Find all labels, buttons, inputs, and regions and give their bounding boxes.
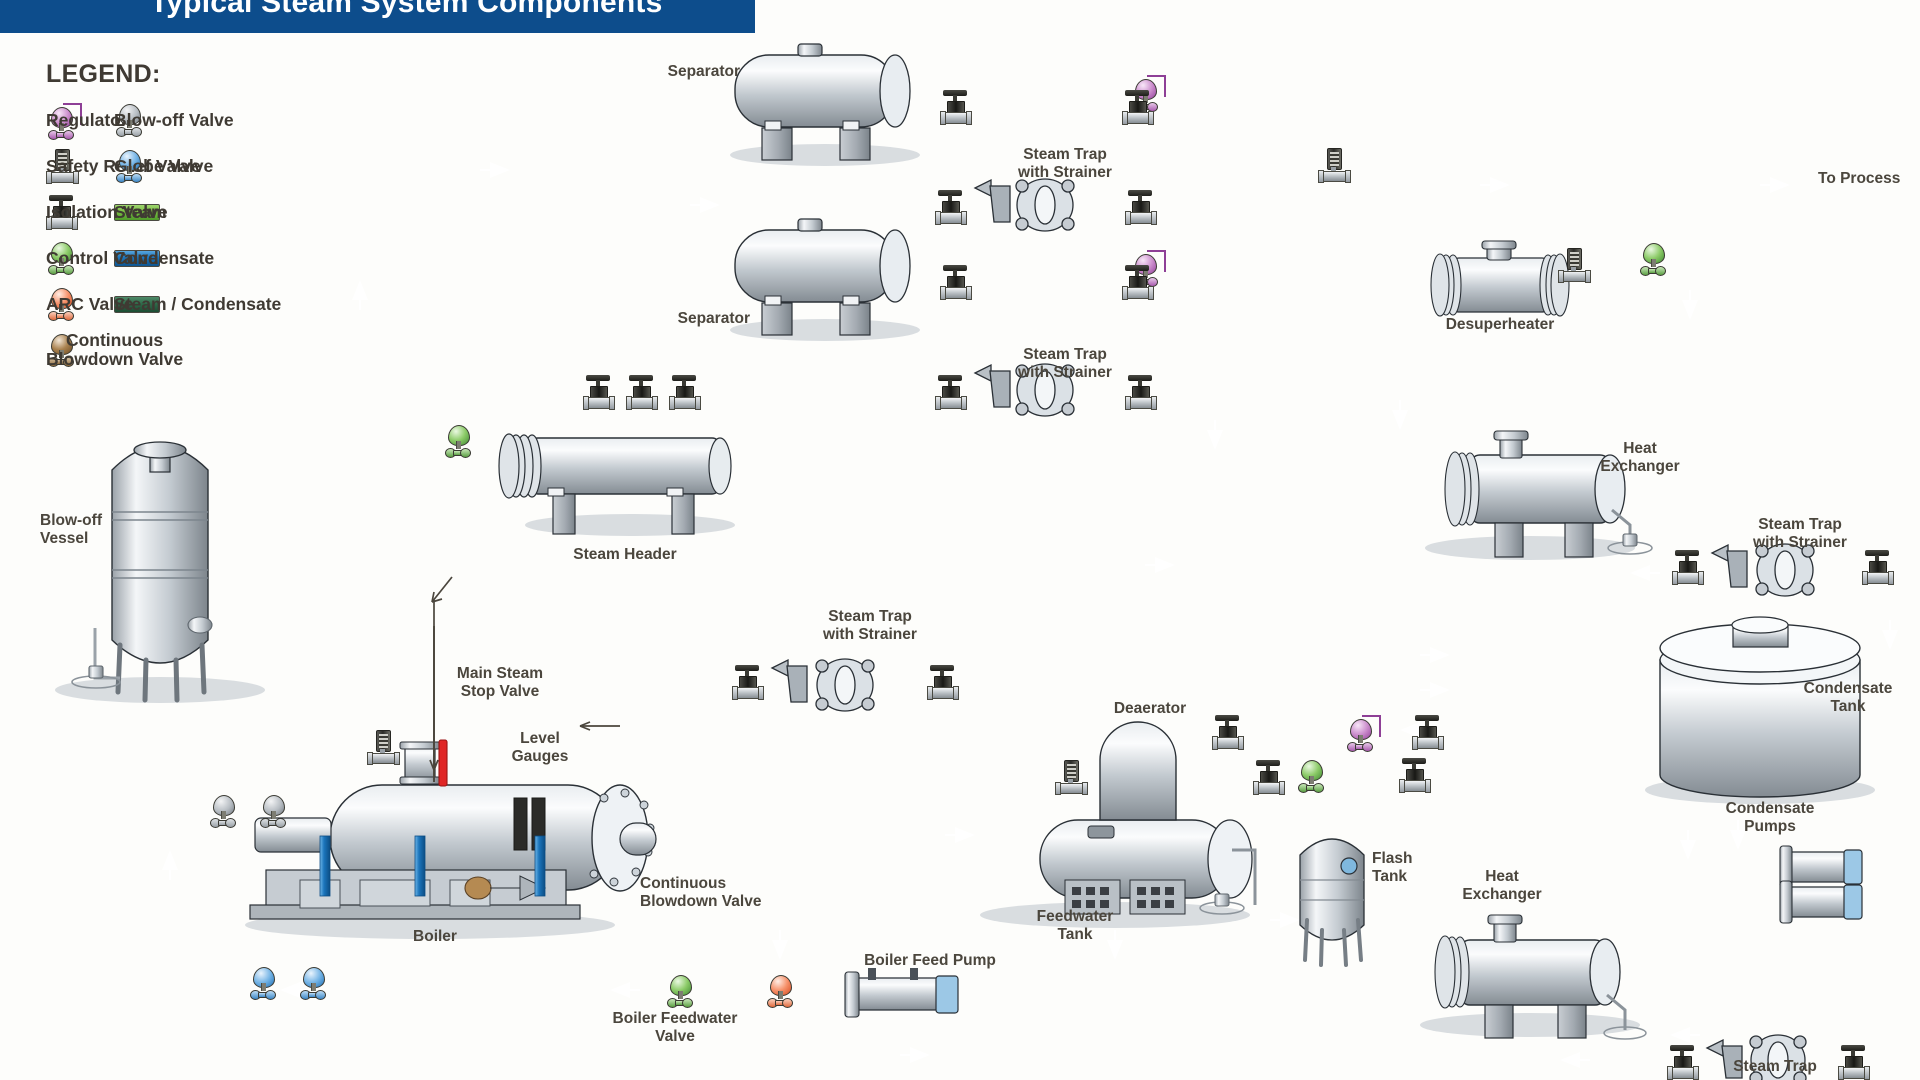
globe-valve-boiler-drain-1[interactable] xyxy=(248,967,278,999)
label-steam-header: Steam Header xyxy=(545,546,705,564)
flash-tank-graphic xyxy=(1300,839,1364,965)
heat-exchanger-bottom-graphic xyxy=(1420,915,1646,1039)
label-desuperheater: Desuperheater xyxy=(1400,316,1600,334)
label-separator-top: Separator xyxy=(620,63,740,81)
label-steam-trap-strainer-4: Steam Trap with Strainer xyxy=(1720,516,1880,553)
label-boiler-feedwater-valve: Boiler Feedwater Valve xyxy=(585,1010,765,1047)
isolation-valve-deaerator-reg-out[interactable] xyxy=(1412,715,1442,749)
isolation-valve-trap2-in[interactable] xyxy=(935,375,965,409)
isolation-valve-sep-bottom-outlet[interactable] xyxy=(940,265,970,299)
label-heat-exchanger-bottom: Heat Exchanger xyxy=(1432,868,1572,905)
label-boiler-feed-pump: Boiler Feed Pump xyxy=(830,952,1030,970)
label-steam-trap-strainer-2: Steam Trap with Strainer xyxy=(985,346,1145,383)
boiler-feed-pump-graphic xyxy=(845,968,958,1017)
isolation-valve-deaerator-cond[interactable] xyxy=(1253,760,1283,794)
control-valve-deaerator-steam[interactable] xyxy=(1296,760,1326,792)
separator-bottom-graphic xyxy=(730,219,920,341)
isolation-valve-trap5-out[interactable] xyxy=(1838,1045,1868,1079)
diagram-canvas: Typical Steam System Components LEGEND: … xyxy=(0,0,1920,1080)
globe-valve-boiler-drain-2[interactable] xyxy=(298,967,328,999)
isolation-valve-deaerator-steam-in[interactable] xyxy=(1212,715,1242,749)
isolation-valve-deaerator-line2[interactable] xyxy=(1399,758,1429,792)
blow-off-valve-boiler-2[interactable] xyxy=(258,795,288,827)
isolation-valve-trap1-in[interactable] xyxy=(935,190,965,224)
label-heat-exchanger-right: Heat Exchanger xyxy=(1565,440,1715,477)
isolation-valve-trap3-out[interactable] xyxy=(927,665,957,699)
boiler-graphic xyxy=(245,785,656,939)
isolation-valve-trap3-in[interactable] xyxy=(732,665,762,699)
label-steam-trap-strainer-3: Steam Trap with Strainer xyxy=(790,608,950,645)
arc-valve-boiler-feed-pump[interactable] xyxy=(765,975,795,1007)
label-main-steam-stop-valve: Main Steam Stop Valve xyxy=(430,665,570,702)
label-to-process: To Process xyxy=(1818,170,1920,188)
safety-relief-valve-deaerator[interactable] xyxy=(1055,760,1087,794)
label-condensate-pumps: Condensate Pumps xyxy=(1690,800,1850,837)
safety-relief-valve-boiler[interactable] xyxy=(367,730,399,764)
isolation-valve-sep-top-outlet[interactable] xyxy=(940,90,970,124)
isolation-valve-header-out-1[interactable] xyxy=(583,375,613,409)
label-level-gauges: Level Gauges xyxy=(490,730,590,767)
isolation-valve-trap4-out[interactable] xyxy=(1862,550,1892,584)
isolation-valve-header-out-2[interactable] xyxy=(626,375,656,409)
label-blow-off-vessel: Blow-off Vessel xyxy=(40,512,150,549)
desuperheater-graphic xyxy=(1431,241,1569,316)
piping-schematic: .pS {stroke:url(#gSteamH); stroke-width:… xyxy=(0,0,1920,1080)
safety-relief-valve-desuperheater[interactable] xyxy=(1558,248,1590,282)
isolation-valve-reg2-out[interactable] xyxy=(1122,265,1152,299)
isolation-valve-trap4-in[interactable] xyxy=(1672,550,1702,584)
condensate-pumps-graphic xyxy=(1780,846,1862,923)
label-condensate-tank: Condensate Tank xyxy=(1768,680,1920,717)
label-separator-bottom: Separator xyxy=(630,310,750,328)
blow-off-valve-boiler-1[interactable] xyxy=(208,795,238,827)
label-feedwater-tank: Feedwater Tank xyxy=(1000,908,1150,945)
control-valve-desuperheater-outlet[interactable] xyxy=(1638,243,1668,275)
separator-top-graphic xyxy=(730,44,920,166)
regulator-deaerator[interactable] xyxy=(1345,715,1383,749)
label-boiler: Boiler xyxy=(380,928,490,946)
safety-relief-valve-to-process[interactable] xyxy=(1318,148,1350,182)
control-valve-steam-header-inlet[interactable] xyxy=(443,425,473,457)
label-steam-trap-strainer-1: Steam Trap with Strainer xyxy=(985,146,1145,183)
label-continuous-blowdown-valve: Continuous Blowdown Valve xyxy=(640,875,810,912)
label-deaerator: Deaerator xyxy=(1080,700,1220,718)
steam-header-graphic xyxy=(499,434,735,536)
isolation-valve-trap5-in[interactable] xyxy=(1667,1045,1697,1079)
control-valve-boiler-feedwater[interactable] xyxy=(665,975,695,1007)
isolation-valve-reg1-out[interactable] xyxy=(1122,90,1152,124)
label-steam-trap-bottom: Steam Trap xyxy=(1710,1058,1840,1076)
isolation-valve-trap1-out[interactable] xyxy=(1125,190,1155,224)
blow-off-vessel-graphic xyxy=(55,442,265,703)
isolation-valve-header-out-3[interactable] xyxy=(669,375,699,409)
main-steam-stop-valve-graphic xyxy=(400,740,447,786)
